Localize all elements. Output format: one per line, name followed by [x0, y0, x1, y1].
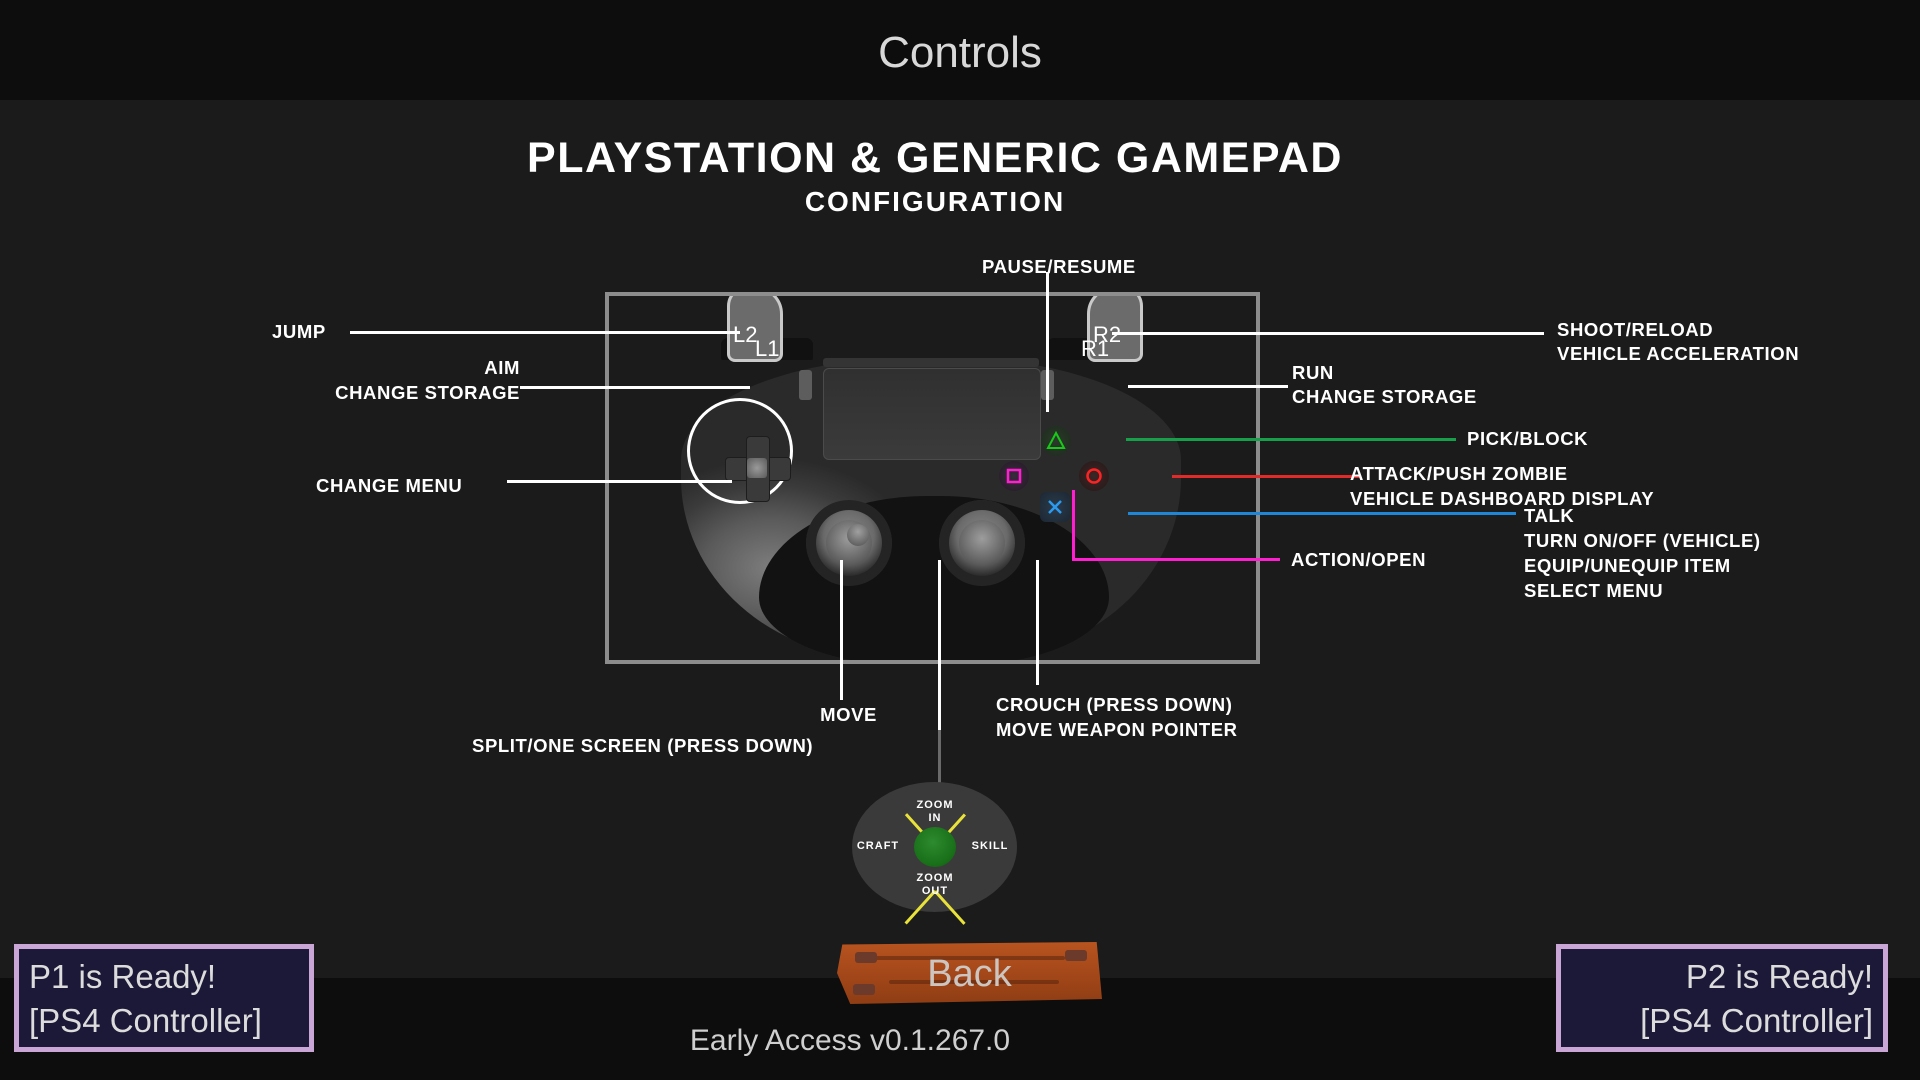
dpad-highlight-ring [687, 398, 793, 504]
split-screen-leader-line [938, 560, 941, 730]
radial-menu[interactable]: ZOOM IN CRAFT SKILL ZOOM OUT [852, 782, 1017, 912]
l2-label: L2 [733, 322, 757, 348]
callout-pause-resume: PAUSE/RESUME [982, 254, 1136, 279]
callout-change-menu: CHANGE MENU [316, 473, 462, 498]
cross-icon [1040, 492, 1070, 522]
share-button [799, 370, 812, 400]
radial-zoom-out-line1[interactable]: ZOOM [904, 872, 966, 884]
player1-ready-text: P1 is Ready! [29, 955, 299, 999]
square-icon [999, 461, 1029, 491]
ps-home-button [847, 524, 869, 546]
radial-menu-hub[interactable] [914, 827, 956, 867]
callout-change-storage-right: CHANGE STORAGE [1292, 384, 1477, 409]
radial-craft[interactable]: CRAFT [850, 840, 906, 852]
attack-leader-line [1172, 475, 1360, 478]
callout-action-open: ACTION/OPEN [1291, 547, 1426, 572]
callout-move-weapon-pointer: MOVE WEAPON POINTER [996, 717, 1238, 742]
version-text: Early Access v0.1.267.0 [0, 1024, 1700, 1058]
aim-leader-line [520, 386, 750, 389]
callout-jump: JUMP [272, 319, 326, 344]
change-menu-leader-line [507, 480, 732, 483]
pick-block-leader-line [1126, 438, 1456, 441]
gamepad-lightbar [823, 358, 1039, 367]
square-button [999, 461, 1029, 491]
radial-zoom-in-line1[interactable]: ZOOM [904, 799, 966, 811]
action-open-leader-vertical [1072, 490, 1075, 560]
dpad-center [747, 458, 767, 478]
config-heading-primary: PLAYSTATION & GENERIC GAMEPAD [0, 134, 1870, 183]
r1-label: R1 [1081, 336, 1109, 362]
controls-screen: Controls PLAYSTATION & GENERIC GAMEPAD C… [0, 0, 1920, 1080]
callout-turn-on-off-vehicle: TURN ON/OFF (VEHICLE) [1524, 528, 1761, 553]
callout-vehicle-acceleration: VEHICLE ACCELERATION [1557, 341, 1799, 366]
callout-vehicle-dashboard: VEHICLE DASHBOARD DISPLAY [1350, 486, 1654, 511]
callout-talk: TALK [1524, 503, 1574, 528]
callout-crouch: CROUCH (PRESS DOWN) [996, 692, 1232, 717]
callout-equip-unequip-item: EQUIP/UNEQUIP ITEM [1524, 553, 1731, 578]
gamepad-touchpad [823, 368, 1041, 460]
right-analog-stick [939, 500, 1025, 586]
radial-menu-leader-line [938, 730, 941, 784]
callout-run: RUN [1292, 360, 1334, 385]
pause-resume-leader-line [1046, 272, 1049, 412]
circle-button [1079, 461, 1109, 491]
circle-icon [1079, 461, 1109, 491]
radial-zoom-in-line2[interactable]: IN [904, 812, 966, 824]
page-title: Controls [0, 28, 1920, 78]
jump-leader-line [350, 331, 740, 334]
callout-move: MOVE [600, 702, 877, 727]
dpad [725, 436, 789, 500]
callout-pick-block: PICK/BLOCK [1467, 426, 1588, 451]
talk-leader-line [1128, 512, 1516, 515]
callout-split-one-screen: SPLIT/ONE SCREEN (PRESS DOWN) [472, 733, 813, 758]
right-stick-cap [959, 520, 1005, 566]
triangle-icon [1041, 426, 1071, 456]
triangle-button [1041, 426, 1071, 456]
callout-aim: AIM [286, 355, 520, 380]
gamepad-illustration: L2 R2 L1 R1 [609, 296, 1256, 660]
move-leader-line [840, 560, 843, 700]
crouch-leader-line [1036, 560, 1039, 685]
back-button-label[interactable]: Back [837, 953, 1102, 996]
action-open-leader-horizontal [1072, 558, 1280, 561]
radial-skill[interactable]: SKILL [962, 840, 1018, 852]
callout-select-menu: SELECT MENU [1524, 578, 1663, 603]
run-leader-line [1128, 385, 1288, 388]
cross-button [1040, 492, 1070, 522]
radial-zoom-out-line2[interactable]: OUT [904, 885, 966, 897]
l1-label: L1 [755, 336, 779, 362]
callout-attack-push-zombie: ATTACK/PUSH ZOMBIE [1350, 461, 1568, 486]
left-analog-stick [806, 500, 892, 586]
callout-shoot-reload: SHOOT/RELOAD [1557, 317, 1713, 342]
callout-change-storage-left: CHANGE STORAGE [286, 380, 520, 405]
player2-ready-text: P2 is Ready! [1571, 955, 1873, 999]
config-heading-secondary: CONFIGURATION [0, 186, 1870, 218]
shoot-reload-leader-line [1112, 332, 1544, 335]
